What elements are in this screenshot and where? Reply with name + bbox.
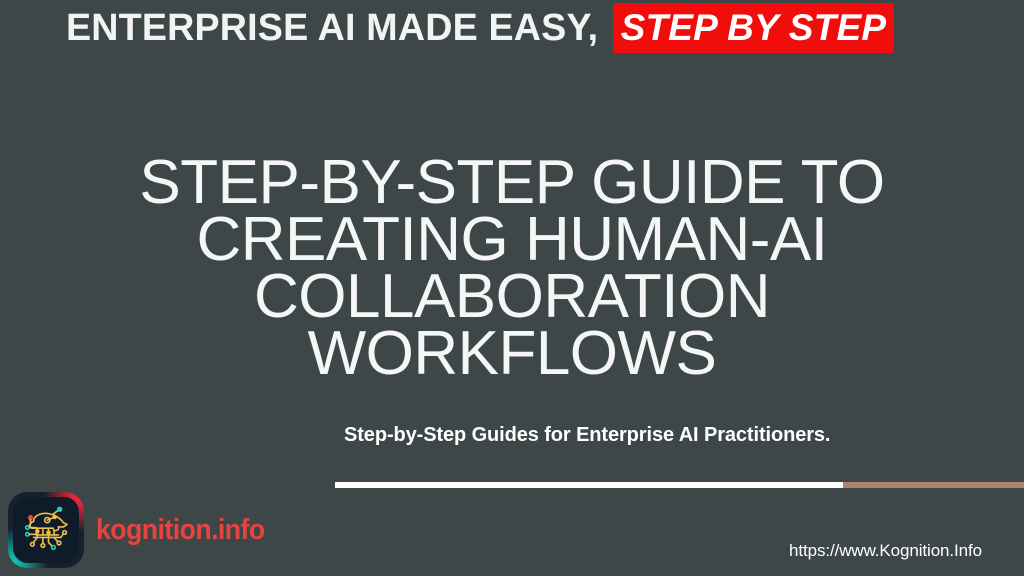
brand-lockup: kognition.info: [8, 492, 279, 568]
title-line-2: CREATING HUMAN-AI: [40, 211, 984, 268]
divider-segment-tan: [843, 482, 1024, 488]
slide-title: STEP-BY-STEP GUIDE TO CREATING HUMAN-AI …: [40, 154, 984, 382]
circuit-brain-icon: [8, 492, 84, 568]
kicker-plain-text: ENTERPRISE AI MADE EASY,: [66, 9, 598, 47]
divider: [335, 482, 1024, 488]
title-line-3: COLLABORATION: [40, 268, 984, 325]
slide-kicker: ENTERPRISE AI MADE EASY, STEP BY STEP: [66, 3, 894, 53]
kicker-highlight-badge: STEP BY STEP: [613, 3, 895, 53]
divider-segment-white: [335, 482, 843, 488]
brand-wordmark: kognition.info: [96, 514, 265, 547]
title-line-4: WORKFLOWS: [40, 325, 984, 382]
title-line-1: STEP-BY-STEP GUIDE TO: [40, 154, 984, 211]
slide-subtitle: Step-by-Step Guides for Enterprise AI Pr…: [344, 424, 830, 447]
presentation-slide: ENTERPRISE AI MADE EASY, STEP BY STEP ST…: [0, 0, 1024, 576]
site-url: https://www.Kognition.Info: [789, 541, 982, 561]
